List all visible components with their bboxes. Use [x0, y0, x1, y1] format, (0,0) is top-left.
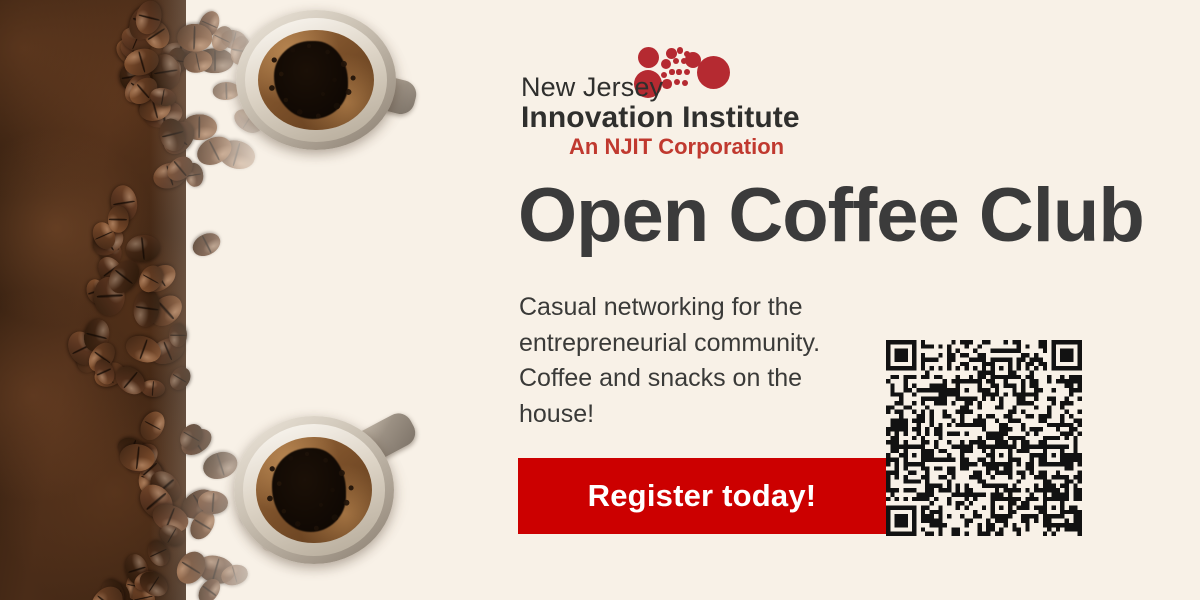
logo-dot [669, 69, 674, 74]
register-button-label: Register today! [588, 478, 817, 514]
page-title: Open Coffee Club [518, 178, 1144, 254]
logo-dot [674, 79, 680, 85]
promotional-banner: New Jersey Innovation Institute An NJIT … [0, 0, 1200, 600]
registration-qr-code[interactable] [886, 340, 1082, 536]
logo-tagline: An NJIT Corporation [569, 134, 784, 160]
logo-dot [673, 58, 679, 64]
logo-dot [638, 47, 659, 68]
qr-canvas [886, 340, 1082, 536]
register-button[interactable]: Register today! [518, 458, 886, 534]
logo-dot [661, 59, 671, 69]
subhead-text: Casual networking for the entrepreneuria… [519, 290, 849, 432]
logo-line-innovation-institute: Innovation Institute [521, 101, 800, 135]
logo-dot [684, 69, 691, 76]
logo-dot [666, 48, 677, 59]
logo-line-new-jersey: New Jersey [521, 72, 663, 103]
logo-dot [682, 80, 689, 87]
banner-content: New Jersey Innovation Institute An NJIT … [0, 0, 1200, 600]
logo-dot [677, 47, 684, 54]
logo-dot [676, 69, 681, 74]
logo-dot [662, 79, 671, 88]
logo-dot [697, 56, 730, 89]
njii-logo: New Jersey Innovation Institute An NJIT … [521, 58, 821, 158]
